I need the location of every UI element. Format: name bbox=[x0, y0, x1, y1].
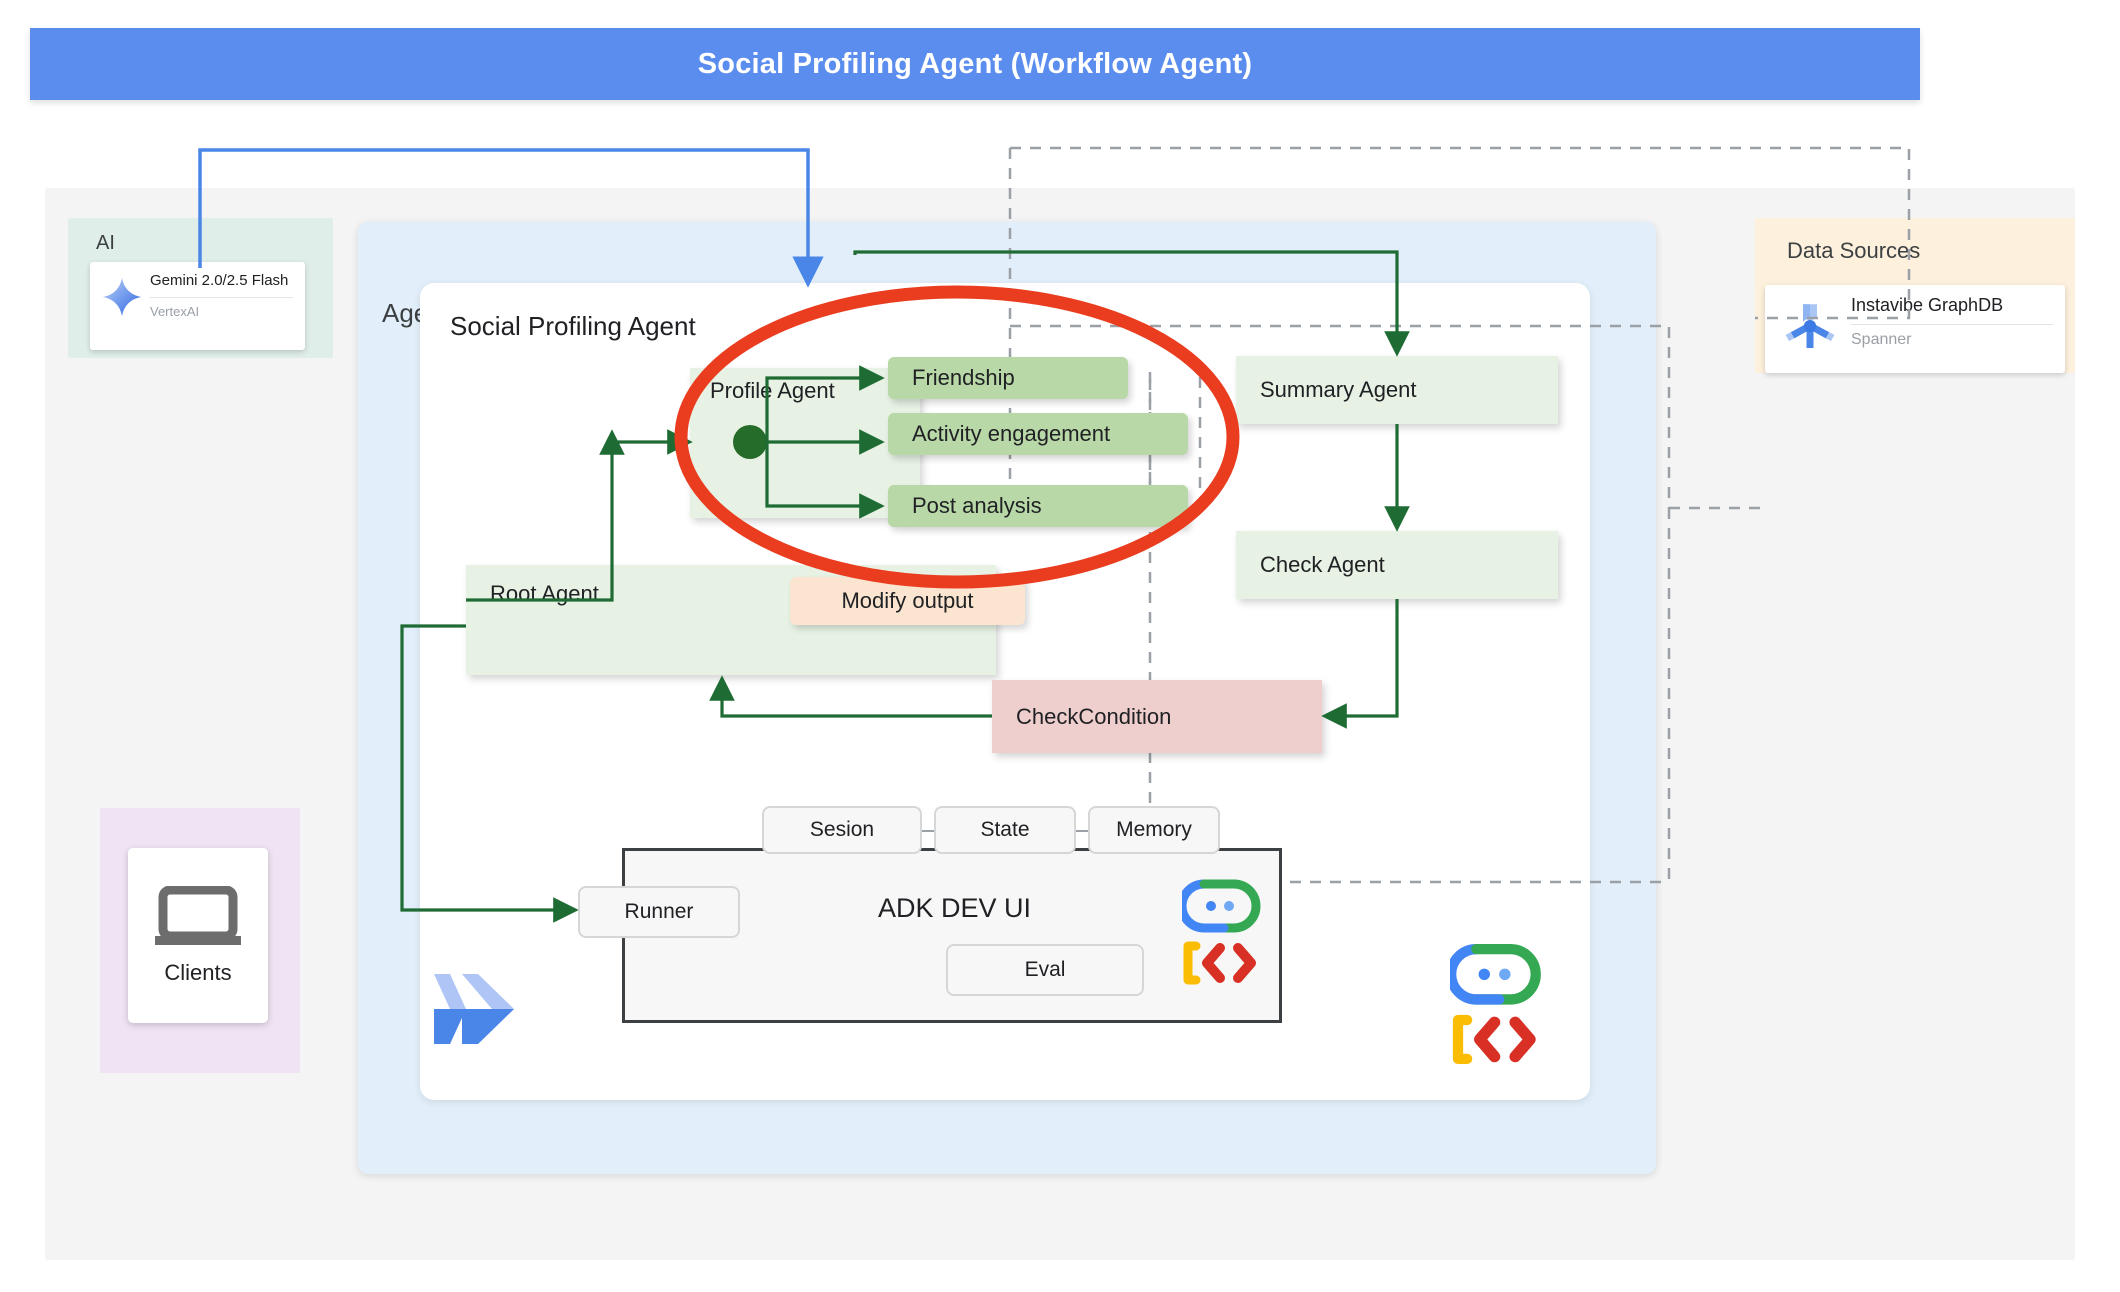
gemini-model-platform: VertexAI bbox=[150, 297, 293, 319]
header-banner: Social Profiling Agent (Workflow Agent) bbox=[30, 28, 1920, 100]
node-summary-agent-label: Summary Agent bbox=[1236, 377, 1417, 403]
task-node-post-analysis[interactable]: Post analysis bbox=[888, 485, 1188, 527]
adk-pill-runner-label: Runner bbox=[625, 900, 694, 924]
ai-group-label: AI bbox=[96, 232, 115, 255]
node-check-condition[interactable]: CheckCondition bbox=[992, 680, 1322, 753]
cloud-run-chevron-icon bbox=[428, 968, 520, 1050]
task-node-activity-engagement[interactable]: Activity engagement bbox=[888, 413, 1188, 455]
adk-dev-ui-title: ADK DEV UI bbox=[878, 893, 1031, 924]
adk-pill-state-label: State bbox=[980, 818, 1029, 842]
task-node-friendship-label: Friendship bbox=[888, 365, 1015, 391]
node-summary-agent[interactable]: Summary Agent bbox=[1236, 356, 1558, 424]
page-title: Social Profiling Agent (Workflow Agent) bbox=[698, 48, 1253, 81]
adk-robot-code-logo-small bbox=[1182, 876, 1264, 988]
profile-agent-start-dot bbox=[733, 425, 767, 459]
node-check-condition-label: CheckCondition bbox=[992, 704, 1171, 730]
node-check-agent[interactable]: Check Agent bbox=[1236, 531, 1558, 599]
gemini-model-name: Gemini 2.0/2.5 Flash bbox=[150, 272, 293, 290]
adk-pill-eval-label: Eval bbox=[1025, 958, 1066, 982]
social-profiling-agent-title: Social Profiling Agent bbox=[450, 311, 696, 342]
task-node-activity-engagement-label: Activity engagement bbox=[888, 421, 1110, 447]
data-sources-label: Data Sources bbox=[1787, 238, 1920, 264]
adk-pill-memory[interactable]: Memory bbox=[1088, 806, 1220, 854]
adk-pill-eval[interactable]: Eval bbox=[946, 944, 1144, 996]
pill-connector-session-state bbox=[922, 830, 934, 832]
node-modify-output-label: Modify output bbox=[841, 588, 973, 614]
spanner-graphdb-icon bbox=[1769, 295, 1851, 355]
instavibe-db-name: Instavibe GraphDB bbox=[1851, 295, 2053, 317]
adk-pill-runner[interactable]: Runner bbox=[578, 886, 740, 938]
node-check-agent-label: Check Agent bbox=[1236, 552, 1385, 578]
gemini-model-card[interactable]: Gemini 2.0/2.5 Flash VertexAI bbox=[90, 262, 305, 350]
adk-pill-state[interactable]: State bbox=[934, 806, 1076, 854]
node-root-agent-label: Root Agent bbox=[466, 581, 599, 607]
task-node-friendship[interactable]: Friendship bbox=[888, 357, 1128, 399]
adk-pill-memory-label: Memory bbox=[1116, 818, 1192, 842]
clients-label: Clients bbox=[164, 960, 231, 986]
node-modify-output[interactable]: Modify output bbox=[790, 577, 1025, 625]
adk-robot-code-logo-large bbox=[1450, 940, 1546, 1068]
gemini-sparkle-icon bbox=[94, 272, 150, 318]
adk-pill-session-label: Sesion bbox=[810, 818, 874, 842]
instavibe-db-engine: Spanner bbox=[1851, 324, 2053, 349]
pill-connector-state-memory bbox=[1076, 830, 1088, 832]
task-node-post-analysis-label: Post analysis bbox=[888, 493, 1042, 519]
adk-pill-session[interactable]: Sesion bbox=[762, 806, 922, 854]
profile-agent-label: Profile Agent bbox=[710, 378, 835, 404]
laptop-icon bbox=[151, 886, 245, 950]
instavibe-graphdb-card[interactable]: Instavibe GraphDB Spanner bbox=[1765, 285, 2065, 373]
clients-card[interactable]: Clients bbox=[128, 848, 268, 1023]
